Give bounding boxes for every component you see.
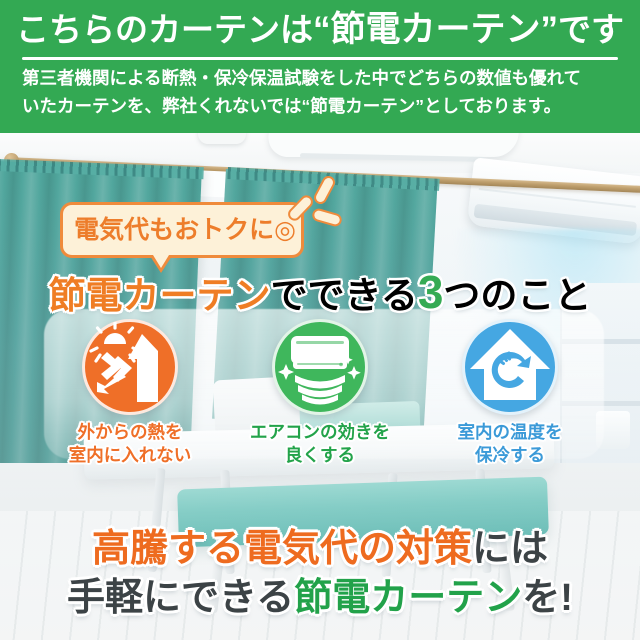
main-headline-number: 3 [418, 266, 444, 318]
benefit-label-heat-block: 外からの熱を 室内に入れない [35, 421, 225, 467]
house-temperature-retain-icon [462, 319, 558, 415]
header-divider [22, 57, 618, 60]
benefit-item-ac-efficiency: エアコンの効きを 良くする [225, 319, 415, 467]
benefit-icon-row: 外からの熱を 室内に入れない [0, 319, 640, 479]
header-title-part-2: です [558, 11, 624, 48]
benefit-label-temperature-retain: 室内の温度を 保冷する [415, 421, 605, 467]
benefit-label-line-1: 外からの熱を [35, 421, 225, 444]
benefit-label-line-2: 室内に入れない [35, 444, 225, 467]
header-subtitle-line-2: いたカーテンを、弊社くれないでは“節電カーテン”としております。 [22, 92, 620, 120]
benefit-item-heat-block: 外からの熱を 室内に入れない [35, 319, 225, 467]
benefit-label-ac-efficiency: エアコンの効きを 良くする [225, 421, 415, 467]
bottom-headline-line-1-tail: には [472, 528, 548, 570]
bottom-headline-orange: 高騰する電気代の対策 [92, 528, 472, 570]
header-subtitle-line-2-emphasis: “節電カーテン” [301, 96, 424, 116]
header-title: こちらのカーテンは“節電カーテン”です [0, 8, 640, 52]
savings-callout-text: 電気代もおトクに◎ [63, 205, 307, 255]
main-headline-orange: 節電カーテン [49, 275, 271, 316]
bottom-headline-line-2: 手軽にできる節電カーテンを! [0, 574, 640, 623]
spark-icon [311, 207, 343, 228]
main-headline-text-1: でできる [271, 275, 418, 316]
benefit-label-line-2: 良くする [225, 444, 415, 467]
benefit-item-temperature-retain: 室内の温度を 保冷する [415, 319, 605, 467]
spark-icon [312, 174, 338, 207]
header-banner: こちらのカーテンは“節電カーテン”です 第三者機関による断熱・保冷保温試験をした… [0, 0, 640, 133]
room-photo: 電気代もおトクに◎ 節電カーテンでできる3つのこと [0, 133, 640, 640]
bottom-headline-line-2-head: 手軽にできる [67, 577, 294, 619]
bottom-headline-line-2-tail: を! [522, 577, 573, 619]
ceiling-light [198, 133, 246, 144]
sun-heat-block-icon [82, 319, 178, 415]
air-conditioner-icon [272, 319, 368, 415]
header-title-part-1: こちらのカーテンは [16, 11, 313, 48]
header-subtitle-line-2-a: いたカーテンを、弊社くれないでは [22, 96, 301, 116]
bubble-tail-inner [153, 255, 169, 268]
benefit-label-line-1: エアコンの効きを [225, 421, 415, 444]
header-subtitle-line-1: 第三者機関による断熱・保冷保温試験をした中でどちらの数値も優れて [22, 64, 620, 92]
header-subtitle: 第三者機関による断熱・保冷保温試験をした中でどちらの数値も優れて いたカーテンを… [22, 64, 620, 120]
product-infographic: こちらのカーテンは“節電カーテン”です 第三者機関による断熱・保冷保温試験をした… [0, 0, 640, 640]
sparkle-decoration [290, 173, 360, 243]
savings-callout-bubble: 電気代もおトクに◎ [60, 202, 304, 258]
header-subtitle-line-2-c: としております。 [424, 96, 561, 116]
bottom-headline: 高騰する電気代の対策には 手軽にできる節電カーテンを! [0, 525, 640, 623]
benefit-label-line-1: 室内の温度を [415, 421, 605, 444]
spark-icon [285, 193, 315, 224]
main-headline-text-2: つのこと [443, 275, 591, 316]
bottom-headline-green: 節電カーテン [294, 577, 522, 619]
benefit-label-line-2: 保冷する [415, 444, 605, 467]
main-headline: 節電カーテンでできる3つのこと [0, 265, 640, 319]
bottom-headline-line-1: 高騰する電気代の対策には [0, 525, 640, 574]
header-title-quoted: “節電カーテン” [313, 10, 558, 49]
